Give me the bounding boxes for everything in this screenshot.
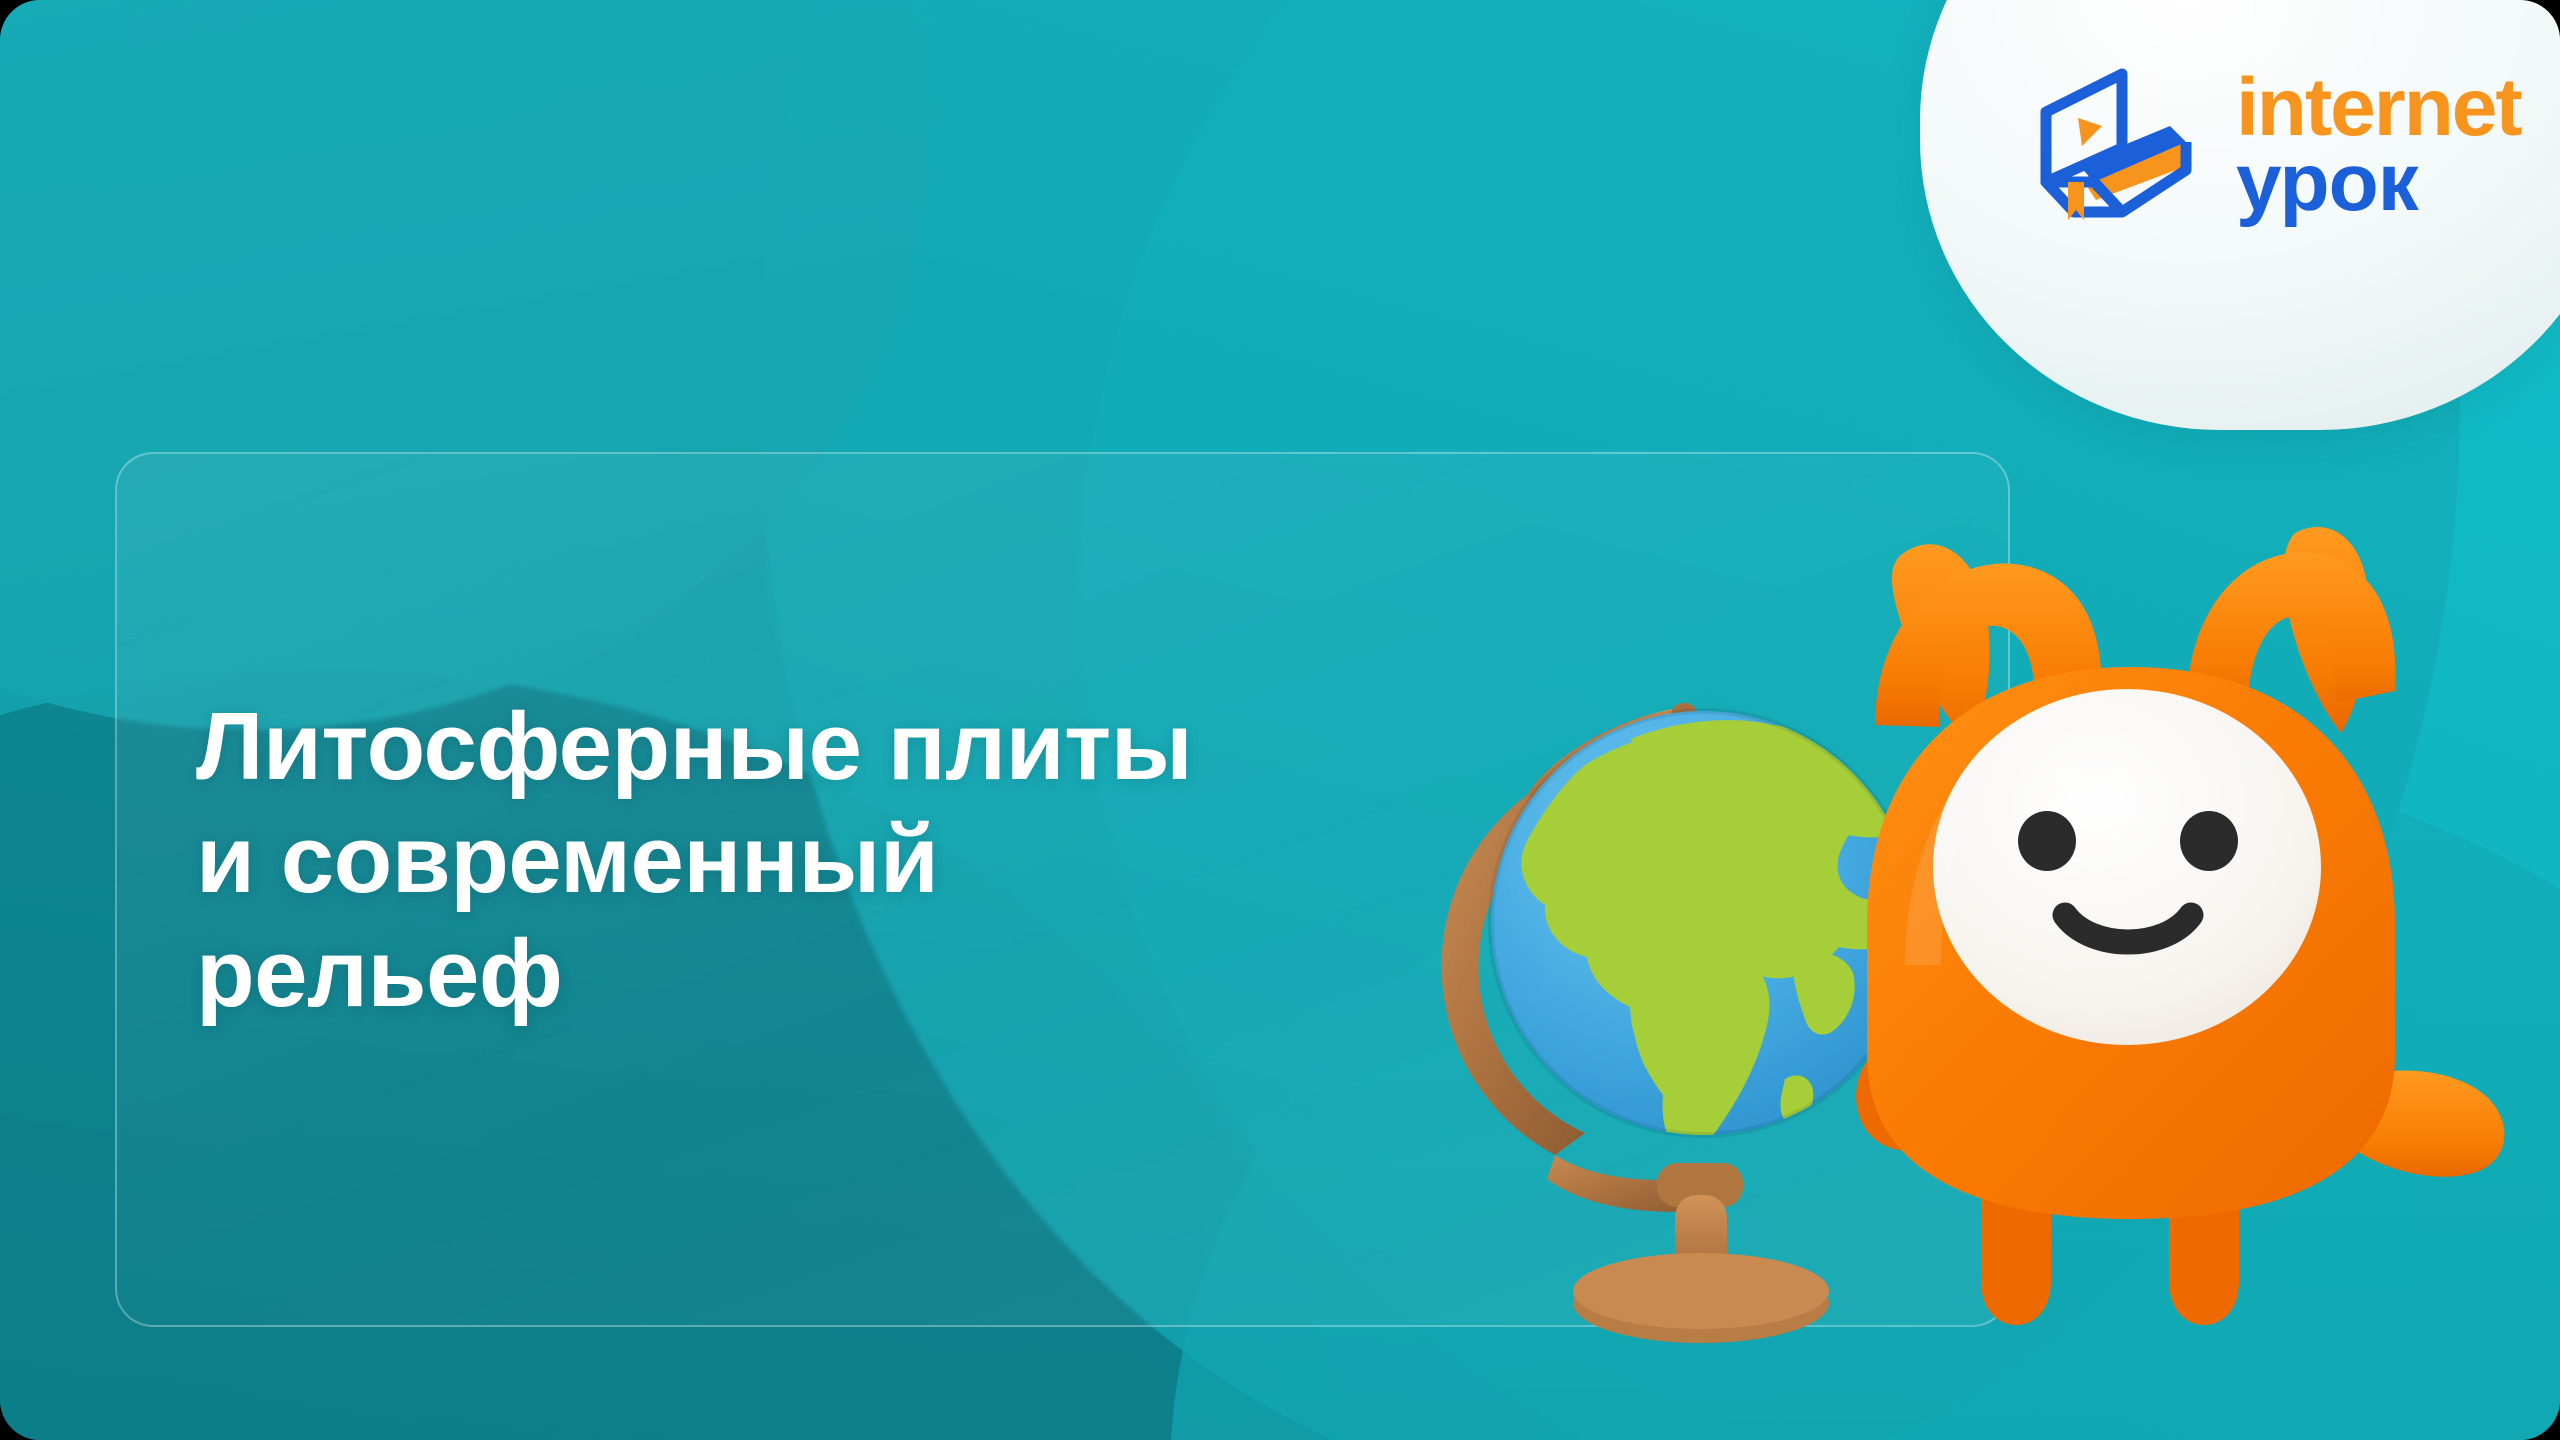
page-title: Литосферные плиты и современный рельеф — [196, 690, 1516, 1030]
mascot-face — [1933, 689, 2321, 1045]
logo-word-internet: internet — [2236, 70, 2521, 145]
logo-word-urok: урок — [2236, 145, 2521, 220]
mascot-icon — [1735, 495, 2525, 1325]
laptop-book-play-icon — [2030, 60, 2202, 230]
mascot-illustration — [1735, 495, 2525, 1325]
eye-right — [2180, 811, 2238, 871]
eye-left — [2018, 811, 2076, 871]
lesson-title-slide: Литосферные плиты и современный рельеф — [0, 0, 2560, 1440]
